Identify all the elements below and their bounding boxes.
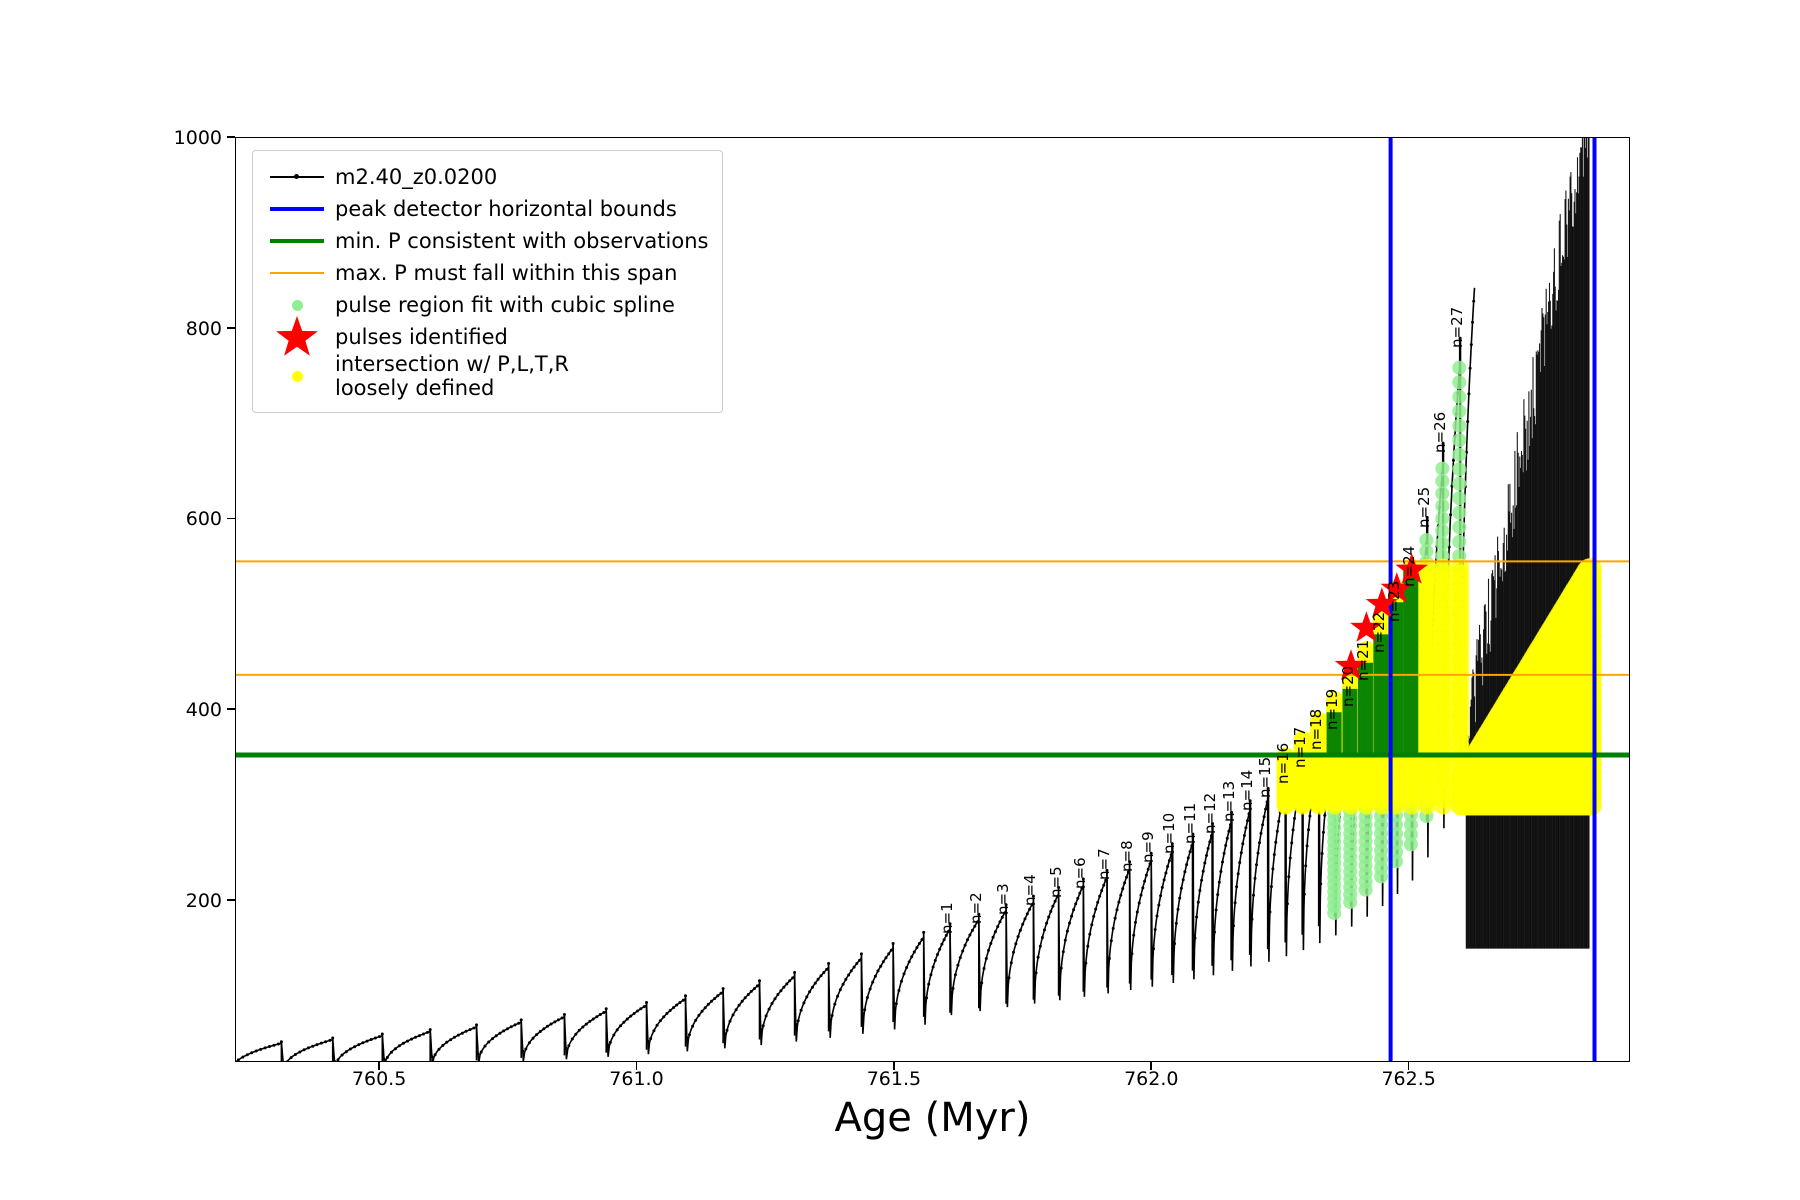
- pulse-number-label: n=4: [1021, 874, 1039, 906]
- legend-line-icon: [270, 207, 324, 211]
- legend-item: intersection w/ P,L,T,Rloosely defined: [265, 353, 708, 400]
- pulse-number-label: n=8: [1118, 840, 1136, 872]
- x-tick-mark: [636, 1062, 638, 1070]
- pulse-number-label: n=10: [1160, 812, 1178, 853]
- pulse-number-label: n=5: [1047, 866, 1065, 898]
- y-tick-label: 800: [102, 318, 222, 340]
- legend-label: peak detector horizontal bounds: [329, 199, 677, 220]
- legend-line-icon: [270, 272, 324, 274]
- x-tick-mark: [1408, 1062, 1410, 1070]
- y-tick-label: 400: [102, 699, 222, 721]
- pulse-number-label: n=25: [1415, 486, 1433, 527]
- y-tick-mark: [227, 136, 235, 138]
- y-tick-mark: [227, 708, 235, 710]
- pulse-number-label: n=24: [1400, 545, 1418, 586]
- legend-label: max. P must fall within this span: [329, 263, 677, 284]
- legend: m2.40_z0.0200peak detector horizontal bo…: [252, 150, 723, 413]
- pulse-number-label: n=26: [1431, 412, 1449, 453]
- pulse-number-label: n=1: [938, 902, 956, 934]
- legend-label: pulse region fit with cubic spline: [329, 295, 675, 316]
- x-tick-label: 762.0: [1091, 1068, 1211, 1090]
- x-tick-label: 762.5: [1349, 1068, 1469, 1090]
- y-tick-mark: [227, 518, 235, 520]
- pulse-number-label: n=3: [994, 883, 1012, 915]
- y-tick-mark: [227, 327, 235, 329]
- x-tick-label: 761.5: [834, 1068, 954, 1090]
- pulse-number-label: n=6: [1071, 857, 1089, 889]
- legend-label: intersection w/ P,L,T,Rloosely defined: [329, 353, 569, 400]
- pulse-number-label: n=11: [1181, 803, 1199, 844]
- legend-label: pulses identified: [329, 327, 508, 348]
- x-tick-label: 761.0: [577, 1068, 697, 1090]
- legend-key-line: [265, 194, 329, 224]
- legend-key-line: [265, 226, 329, 256]
- y-tick-mark: [227, 899, 235, 901]
- pulse-number-label: n=9: [1139, 832, 1157, 864]
- pulse-number-label: n=16: [1274, 743, 1292, 784]
- legend-label: min. P consistent with observations: [329, 231, 708, 252]
- x-axis-title: Age (Myr): [235, 1095, 1630, 1141]
- legend-item: pulses identified: [265, 321, 708, 353]
- dense-pulse-band: [1466, 138, 1589, 949]
- plot-area: n=1n=2n=3n=4n=5n=6n=7n=8n=9n=10n=11n=12n…: [235, 137, 1630, 1062]
- pulse-number-label: n=7: [1095, 849, 1113, 881]
- pulse-number-label: n=15: [1256, 757, 1274, 798]
- legend-dot-icon: [292, 300, 303, 311]
- pulse-number-label: n=14: [1238, 770, 1256, 811]
- pulse-number-label: n=12: [1201, 792, 1219, 833]
- legend-line-icon: [270, 176, 324, 178]
- legend-item: m2.40_z0.0200: [265, 161, 708, 193]
- pulse-spikes: [236, 338, 1460, 1062]
- legend-star-icon: [269, 314, 325, 360]
- pulse-number-label: n=17: [1291, 727, 1309, 768]
- legend-key-line: [265, 258, 329, 288]
- legend-key-star: [265, 322, 329, 352]
- x-tick-label: 760.5: [319, 1068, 439, 1090]
- legend-item: peak detector horizontal bounds: [265, 193, 708, 225]
- legend-line-icon: [270, 239, 324, 243]
- legend-key-dot: [265, 362, 329, 392]
- y-tick-label: 200: [102, 890, 222, 912]
- pulse-number-label: n=27: [1448, 307, 1466, 348]
- x-tick-mark: [893, 1062, 895, 1070]
- y-tick-label: 1000: [102, 127, 222, 149]
- x-tick-mark: [378, 1062, 380, 1070]
- x-tick-mark: [1150, 1062, 1152, 1070]
- data-point-markers: [236, 300, 1475, 1062]
- legend-item: min. P consistent with observations: [265, 225, 708, 257]
- legend-dot-icon: [292, 371, 303, 382]
- legend-label: m2.40_z0.0200: [329, 167, 497, 188]
- legend-item: pulse region fit with cubic spline: [265, 289, 708, 321]
- pulse-number-label: n=2: [967, 893, 985, 925]
- figure-canvas: O1 period (days) Age (Myr) 2004006008001…: [0, 0, 1800, 1200]
- legend-item: max. P must fall within this span: [265, 257, 708, 289]
- y-tick-label: 600: [102, 508, 222, 530]
- legend-key-line: [265, 162, 329, 192]
- pulse-number-label: n=13: [1220, 781, 1238, 822]
